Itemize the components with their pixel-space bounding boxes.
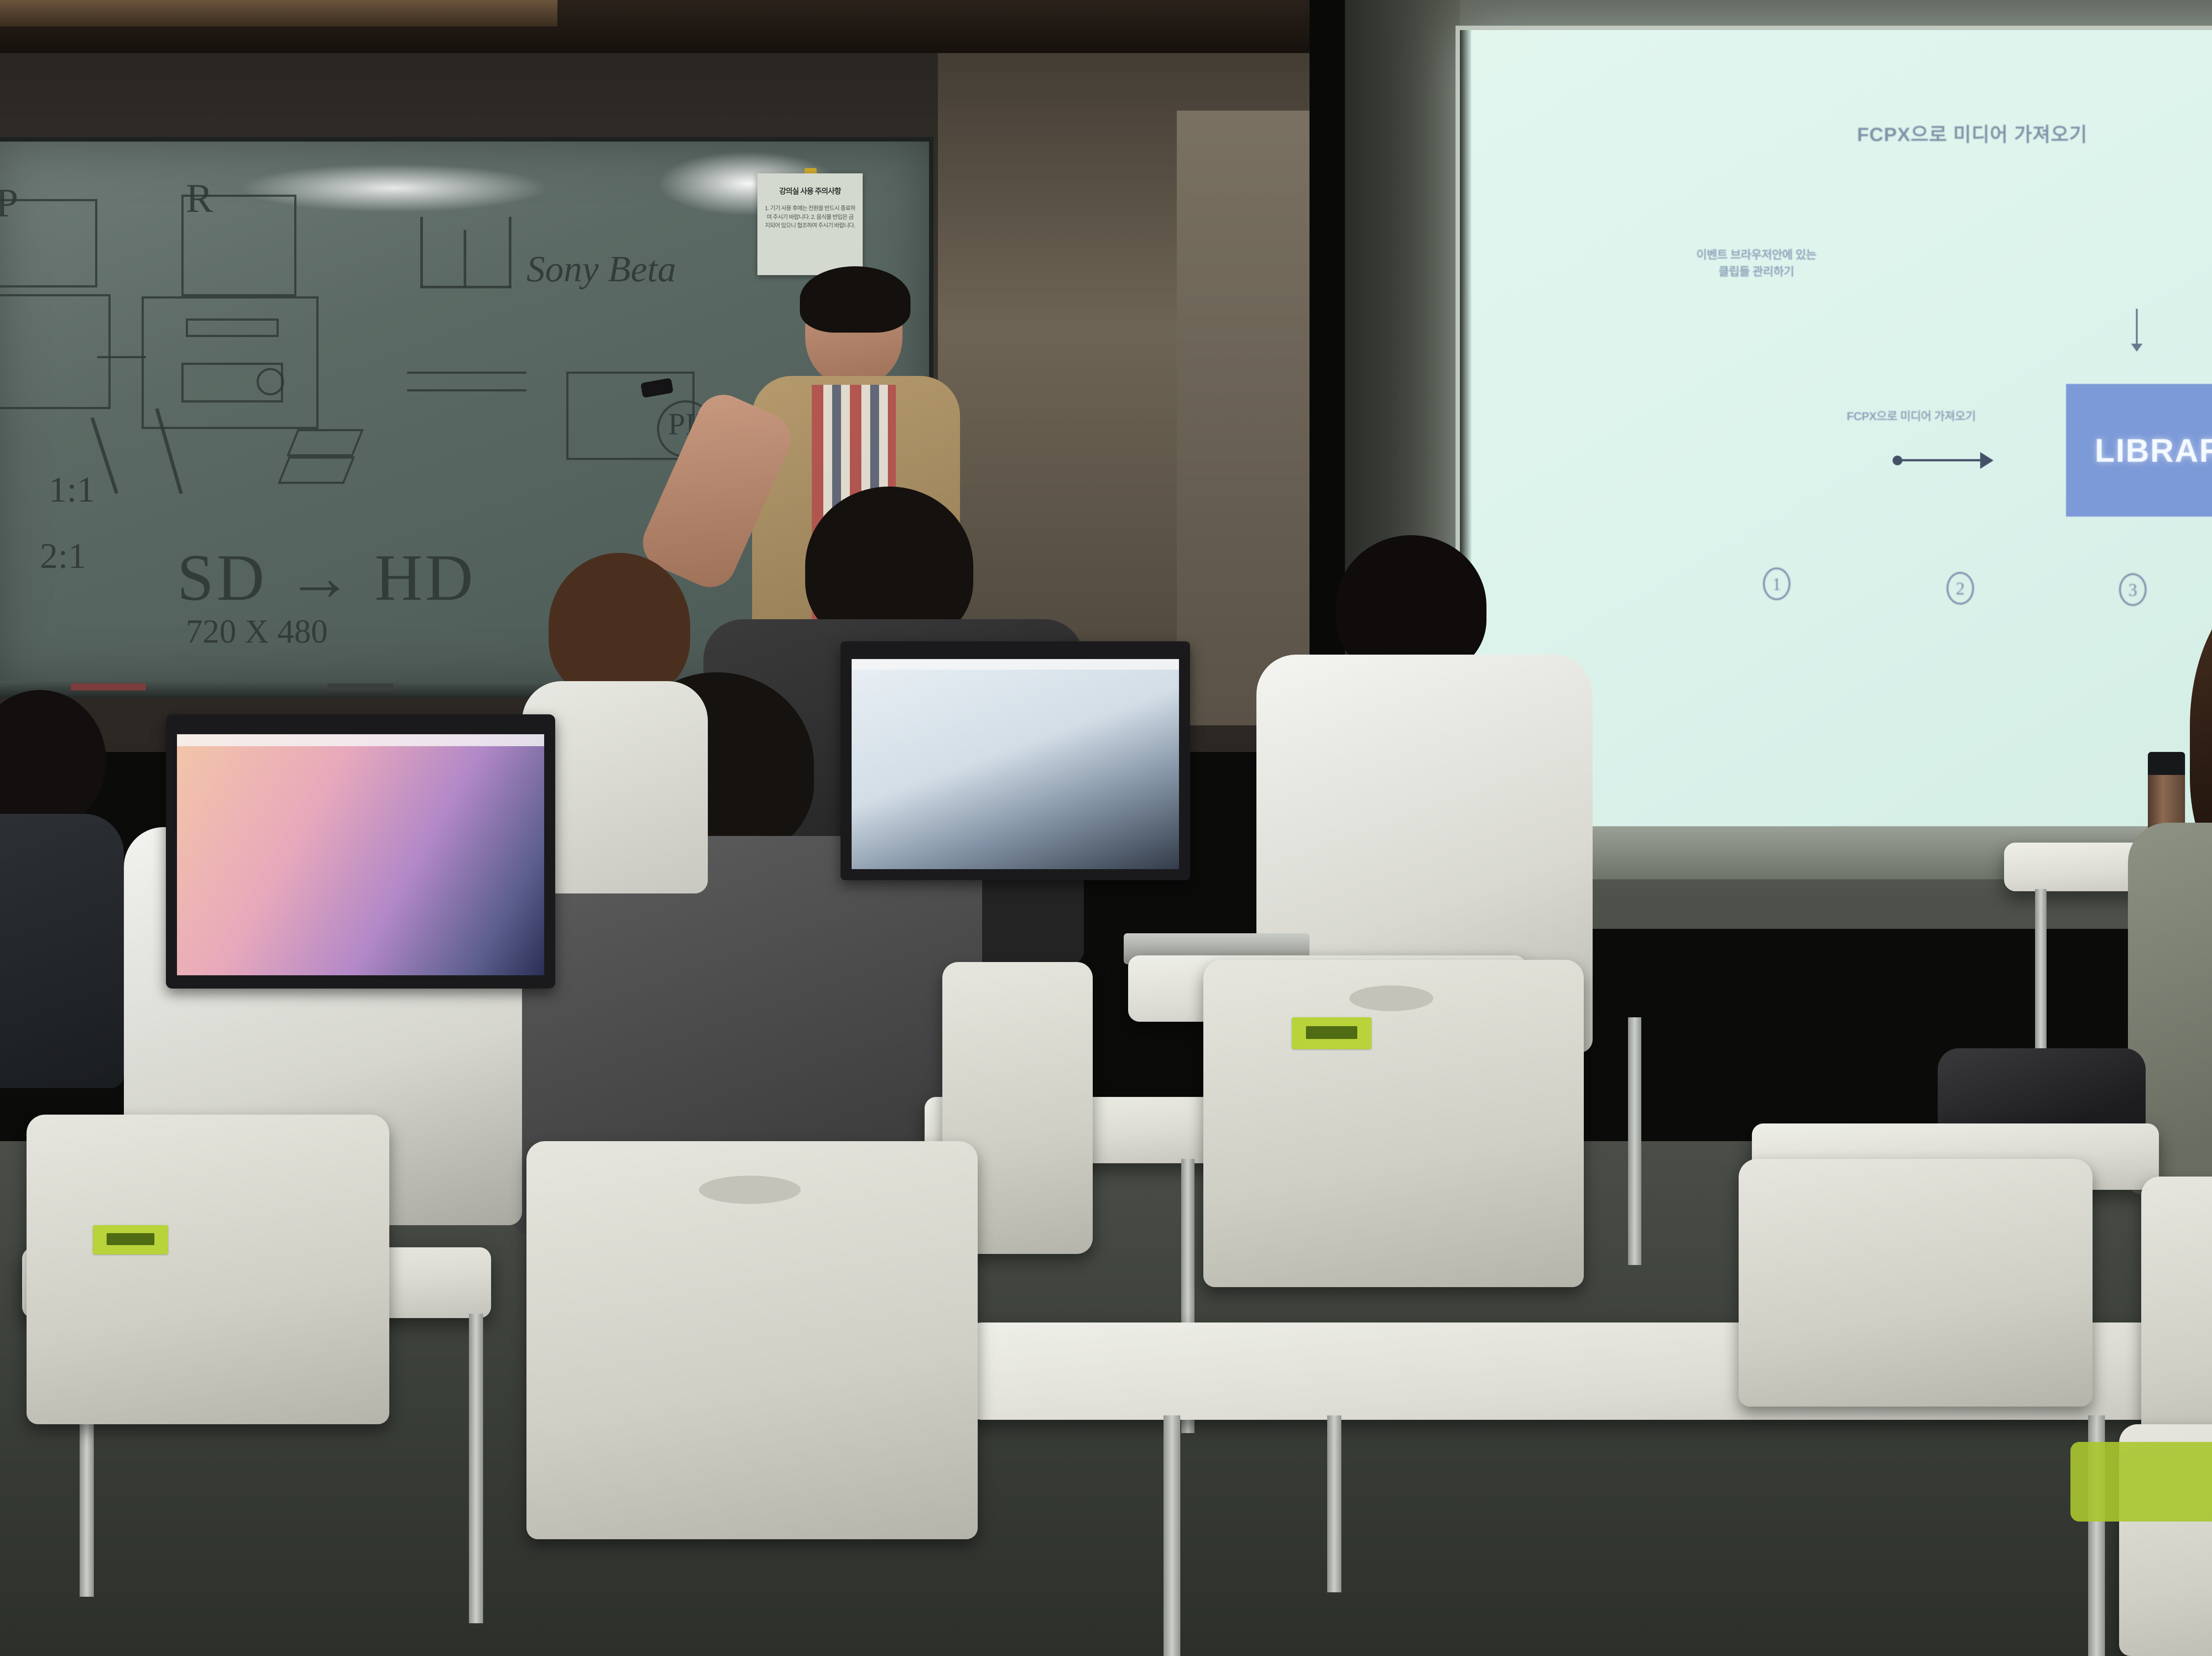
slide-title: FCPX으로 미디어 가져오기 [1460, 119, 2212, 147]
macbook-screen [852, 659, 1179, 869]
whiteboard-note-sony-beta: Sony Beta [526, 248, 676, 291]
down-arrow-library [2136, 309, 2138, 345]
head [0, 690, 106, 832]
chair[interactable] [526, 1141, 978, 1539]
classroom-scene: P R Sony Beta PIP 1:1 2:1 SD → HD 720 X … [0, 0, 2212, 1656]
chair-asset-tag [1292, 1017, 1371, 1049]
chair-handle-slot [1349, 985, 1433, 1011]
whiteboard-note-p: P [0, 179, 18, 226]
hair [800, 266, 910, 333]
chair-green-seat[interactable] [2070, 1442, 2212, 1522]
whiteboard-note-resolution: 720 X 480 [186, 613, 328, 651]
step-number-2: 2 [1947, 572, 1974, 605]
chair-asset-tag [93, 1225, 168, 1254]
whiteboard-drawing-deck [0, 294, 111, 409]
torso [0, 814, 124, 1088]
slide-top-label-project: 타임라인에서 편집하기 [2190, 262, 2212, 279]
desk-leg [1327, 1415, 1341, 1592]
whiteboard-drawing-cable [97, 356, 146, 358]
whiteboard-drawing-funnel [509, 217, 511, 287]
whiteboard-marker[interactable] [71, 683, 146, 690]
chair[interactable] [1739, 1159, 2093, 1407]
notice-heading: 강의실 사용 주의사항 [764, 185, 856, 196]
flow-box-library: LIBRARY [2066, 384, 2212, 517]
chair[interactable] [1203, 960, 1584, 1287]
chair[interactable] [27, 1115, 389, 1424]
whiteboard-drawing-funnel [420, 217, 423, 287]
head [549, 553, 690, 699]
whiteboard-note-ratio-1-1: 1:1 [49, 469, 95, 510]
chair-handle-slot [699, 1176, 801, 1204]
whiteboard-drawing-tape [277, 456, 355, 484]
chair[interactable] [2141, 1177, 2212, 1451]
whiteboard-drawing-rule [407, 389, 526, 391]
slide-top-label-library: 이벤트 브라우저안에 있는 클립들 관리하기 [1650, 247, 1863, 280]
whiteboard-drawing-funnel-spout [464, 230, 466, 287]
person-student-left-edge [0, 690, 124, 1088]
notice-body: 1. 기기 사용 후에는 전원을 반드시 종료하여 주시기 바랍니다. 2. 음… [764, 204, 856, 230]
desk-leg [1164, 1415, 1180, 1656]
mac-menu-bar[interactable] [177, 734, 544, 746]
whiteboard-drawing-slot [186, 318, 279, 337]
whiteboard-eraser[interactable] [327, 683, 394, 690]
notice-paper: 강의실 사용 주의사항 1. 기기 사용 후에는 전원을 반드시 종료하여 주시… [757, 173, 863, 275]
arrow-import [1898, 459, 1982, 461]
whiteboard-note-sd-hd: SD → HD [177, 540, 476, 616]
whiteboard-drawing-tape [286, 429, 364, 456]
desk-leg [469, 1314, 483, 1623]
desk-leg [1628, 1017, 1641, 1265]
slide-arrow-label-import: FCPX으로 미디어 가져오기 [1796, 408, 2026, 425]
ceiling-wood-beam [0, 0, 557, 27]
whiteboard-drawing-rule [407, 372, 526, 374]
whiteboard-note-r: R [186, 175, 213, 222]
whiteboard-drawing-dial [257, 368, 284, 395]
mac-menu-bar[interactable] [852, 659, 1179, 670]
whiteboard-note-ratio-2-1: 2:1 [40, 535, 86, 577]
step-number-1: 1 [1763, 567, 1790, 600]
display-screen [177, 734, 544, 975]
